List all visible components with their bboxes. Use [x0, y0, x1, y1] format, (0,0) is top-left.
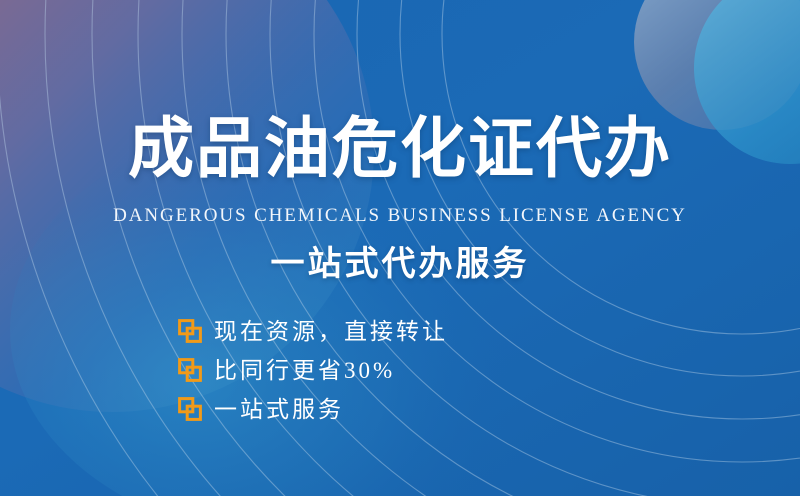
- list-item-label: 现在资源，直接转让: [214, 320, 448, 343]
- banner-content: 成品油危化证代办 DANGEROUS CHEMICALS BUSINESS LI…: [0, 0, 800, 496]
- overlapping-squares-icon: [178, 358, 202, 382]
- headline: 成品油危化证代办: [0, 116, 800, 182]
- subtitle-english: DANGEROUS CHEMICALS BUSINESS LICENSE AGE…: [0, 206, 800, 225]
- list-item: 现在资源，直接转让: [178, 317, 448, 345]
- list-item-label: 比同行更省30%: [214, 359, 395, 382]
- list-item: 比同行更省30%: [178, 356, 448, 384]
- promo-banner: 成品油危化证代办 DANGEROUS CHEMICALS BUSINESS LI…: [0, 0, 800, 496]
- tagline: 一站式代办服务: [0, 247, 800, 281]
- overlapping-squares-icon: [178, 319, 202, 343]
- overlapping-squares-icon: [178, 397, 202, 421]
- list-item: 一站式服务: [178, 395, 448, 423]
- bullet-list: 现在资源，直接转让 比同行更省30% 一站式服务: [178, 317, 448, 423]
- list-item-label: 一站式服务: [214, 398, 344, 421]
